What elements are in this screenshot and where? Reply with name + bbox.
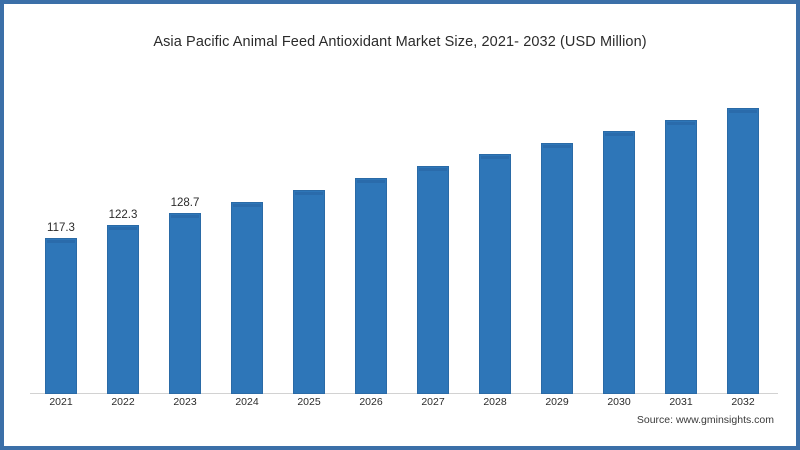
bar-2032[interactable]: [727, 108, 759, 394]
bar-cap: [109, 227, 137, 230]
chart-title: Asia Pacific Animal Feed Antioxidant Mar…: [4, 34, 796, 50]
bar-slot: 2027: [402, 94, 464, 394]
bar-2027[interactable]: [417, 166, 449, 394]
bar-cap: [481, 156, 509, 159]
bar-slot: 2025: [278, 94, 340, 394]
x-tick-2032: 2032: [703, 396, 783, 408]
bar-slot: 2028: [464, 94, 526, 394]
bar-2021[interactable]: [45, 238, 77, 394]
bar-2025[interactable]: [293, 190, 325, 394]
bar-cap: [543, 145, 571, 148]
bar-cap: [233, 204, 261, 207]
bar-2026[interactable]: [355, 178, 387, 394]
bar-slot: 117.3 2021: [30, 94, 92, 394]
bar-slot: 2030: [588, 94, 650, 394]
bar-2029[interactable]: [541, 143, 573, 394]
bar-slot: 2026: [340, 94, 402, 394]
bar-value-label: 117.3: [21, 222, 101, 234]
bar-cap: [357, 180, 385, 183]
bar-slot: 2029: [526, 94, 588, 394]
bar-slot: 2031: [650, 94, 712, 394]
bar-slot: 2032: [712, 94, 774, 394]
bar-value-label: 128.7: [145, 197, 225, 209]
chart-frame: Asia Pacific Animal Feed Antioxidant Mar…: [0, 0, 800, 450]
plot-area: 117.3 2021 122.3 2022 128.7 2023 2024 20…: [30, 94, 778, 394]
bar-cap: [419, 168, 447, 171]
bar-cap: [667, 122, 695, 125]
bar-cap: [605, 133, 633, 136]
bar-2030[interactable]: [603, 131, 635, 394]
bar-2022[interactable]: [107, 225, 139, 394]
bar-2031[interactable]: [665, 120, 697, 394]
bar-cap: [47, 240, 75, 243]
bar-cap: [729, 110, 757, 113]
bar-2023[interactable]: [169, 213, 201, 394]
bar-value-label: 122.3: [83, 209, 163, 221]
bar-cap: [295, 192, 323, 195]
bar-cap: [171, 215, 199, 218]
bar-slot: 122.3 2022: [92, 94, 154, 394]
bar-slot: 128.7 2023: [154, 94, 216, 394]
bar-2028[interactable]: [479, 154, 511, 394]
source-attribution: Source: www.gminsights.com: [637, 414, 774, 426]
bar-slot: 2024: [216, 94, 278, 394]
bar-2024[interactable]: [231, 202, 263, 394]
